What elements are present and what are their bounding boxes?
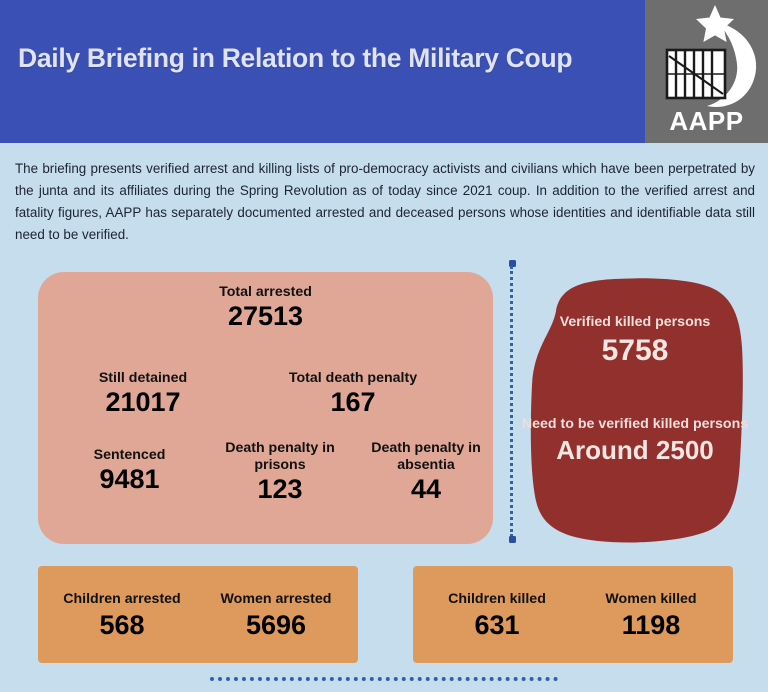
stat-total-arrested: Total arrested 27513 [173,284,358,331]
stat-label: Total death penalty [248,370,458,387]
aapp-logo: AAPP [645,0,768,143]
stat-value: 1198 [571,610,731,640]
killed-breakdown-box: Children killed 631 Women killed 1198 [413,566,733,663]
stat-need-verified-killed: Need to be verified killed persons Aroun… [518,415,752,465]
stat-label: Women killed [571,591,731,608]
stat-label: Children arrested [42,591,202,608]
stat-label: Death penalty in absentia [356,440,496,474]
stat-label: Still detained [63,370,223,387]
stat-label: Women arrested [196,591,356,608]
divider-line [510,266,513,537]
stat-value: 27513 [173,302,358,332]
stat-total-death-penalty: Total death penalty 167 [248,370,458,417]
stat-label: Verified killed persons [518,313,752,332]
stat-value: 5696 [196,610,356,640]
stat-label: Sentenced [52,447,207,464]
stat-children-arrested: Children arrested 568 [42,591,202,640]
stat-still-detained: Still detained 21017 [63,370,223,417]
stat-value: 631 [417,610,577,640]
stat-death-penalty-in-absentia: Death penalty in absentia 44 [356,440,496,504]
stat-verified-killed: Verified killed persons 5758 [518,313,752,368]
stat-value: 9481 [52,465,207,495]
stat-value: 123 [210,475,350,505]
horizontal-dotted-divider [210,677,558,681]
stat-women-killed: Women killed 1198 [571,591,731,640]
stat-value: 167 [248,388,458,418]
stat-children-killed: Children killed 631 [417,591,577,640]
stat-death-penalty-in-prisons: Death penalty in prisons 123 [210,440,350,504]
stat-label: Need to be verified killed persons [518,415,752,434]
arrested-breakdown-box: Children arrested 568 Women arrested 569… [38,566,358,663]
intro-paragraph: The briefing presents verified arrest an… [15,158,755,245]
aapp-logo-text: AAPP [645,106,768,137]
page-header: Daily Briefing in Relation to the Milita… [0,0,768,143]
arrest-statistics-panel: Total arrested 27513 Still detained 2101… [38,272,493,544]
stat-label: Total arrested [173,284,358,301]
stat-label: Children killed [417,591,577,608]
stat-value: 5758 [518,334,752,368]
stat-value: 568 [42,610,202,640]
stat-label: Death penalty in prisons [210,440,350,474]
stat-value: 44 [356,475,496,505]
stat-value: 21017 [63,388,223,418]
killed-statistics-panel: Verified killed persons 5758 Need to be … [518,275,752,547]
page-title: Daily Briefing in Relation to the Milita… [18,44,633,73]
divider-cap-bottom [509,536,516,543]
stat-women-arrested: Women arrested 5696 [196,591,356,640]
stat-sentenced: Sentenced 9481 [52,447,207,494]
stat-value: Around 2500 [518,436,752,465]
vertical-dotted-divider [509,260,515,543]
prison-bars-icon [667,50,725,98]
